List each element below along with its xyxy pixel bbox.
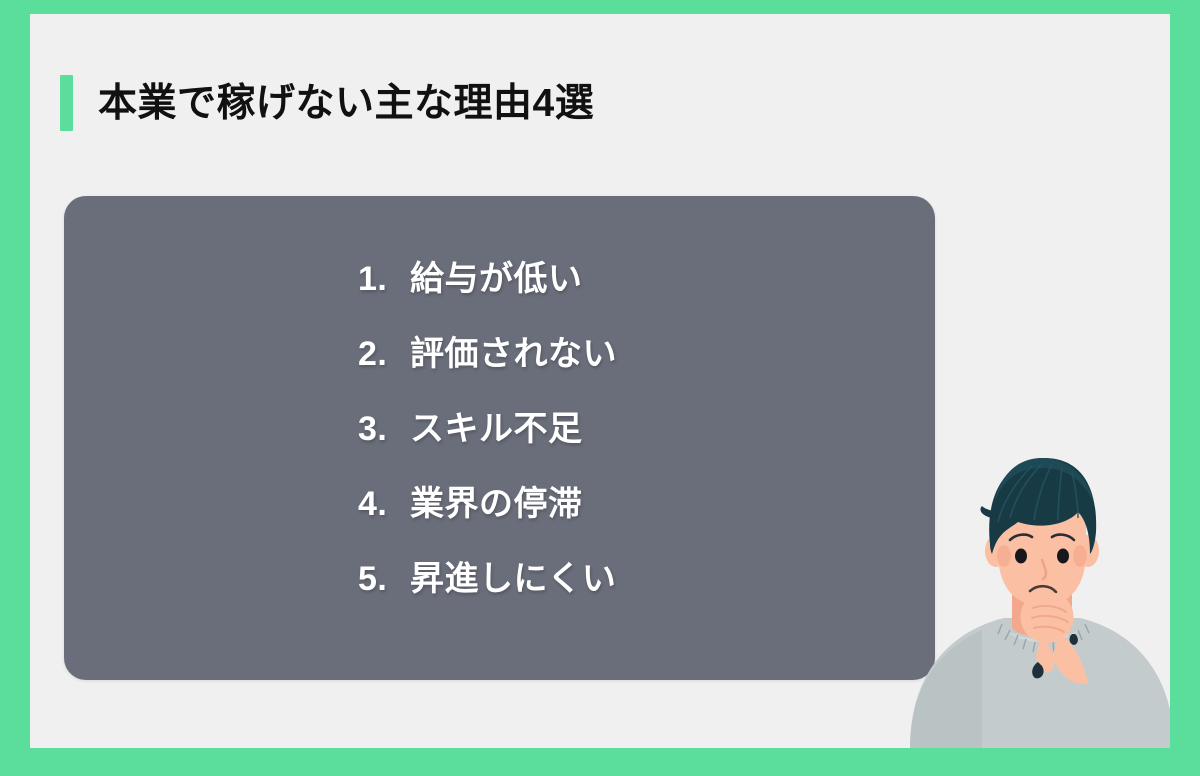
list-item-label: 評価されない xyxy=(410,326,617,375)
list-item-number: 3. xyxy=(358,410,406,449)
slide-header: 本業で稼げない主な理由4選 xyxy=(60,75,594,131)
slide-root: 本業で稼げない主な理由4選 1. 給与が低い 2. 評価されない 3. スキル不… xyxy=(0,0,1200,776)
list-item-label: 業界の停滞 xyxy=(410,476,583,525)
list-item: 5. 昇進しにくい xyxy=(358,551,616,626)
list-item-label: スキル不足 xyxy=(410,401,583,450)
reasons-list: 1. 給与が低い 2. 評価されない 3. スキル不足 4. 業界の停滞 5. xyxy=(64,196,935,680)
list-item: 1. 給与が低い xyxy=(358,251,583,326)
list-item-number: 4. xyxy=(358,485,406,524)
list-item-label: 給与が低い xyxy=(410,251,583,300)
list-item: 3. スキル不足 xyxy=(358,401,583,476)
list-item-number: 1. xyxy=(358,260,406,299)
list-item-number: 5. xyxy=(358,560,406,599)
slide-canvas: 本業で稼げない主な理由4選 1. 給与が低い 2. 評価されない 3. スキル不… xyxy=(30,14,1170,748)
page-title: 本業で稼げない主な理由4選 xyxy=(98,84,594,123)
list-item: 2. 評価されない xyxy=(358,326,617,401)
list-item-number: 2. xyxy=(358,335,406,374)
list-item: 4. 業界の停滞 xyxy=(358,476,583,551)
reasons-panel: 1. 給与が低い 2. 評価されない 3. スキル不足 4. 業界の停滞 5. xyxy=(64,196,935,680)
green-accent-bar-icon xyxy=(60,75,73,131)
list-item-label: 昇進しにくい xyxy=(410,551,616,600)
